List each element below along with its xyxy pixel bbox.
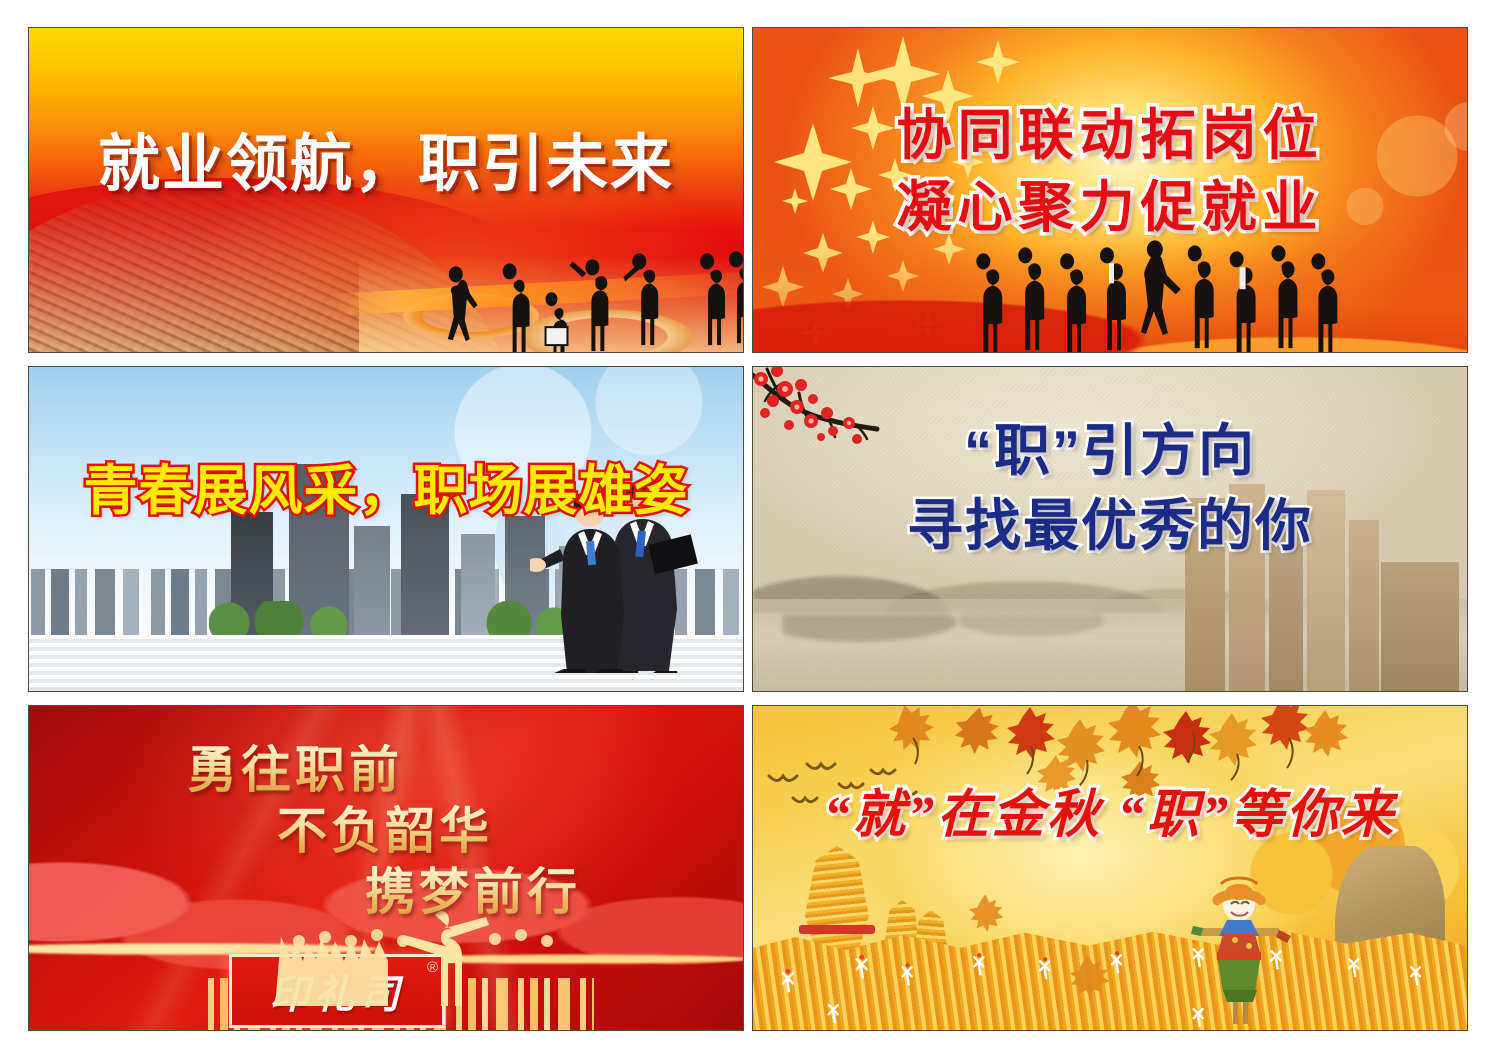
banner-card-5[interactable]: 勇往职前 不负韶华 携梦前行 印礼司 ® (28, 705, 744, 1031)
banner-3-line-1: 青春展风采，职场展雄姿 (29, 463, 743, 520)
banner-6-title: “就”在金秋 “职”等你来 (753, 788, 1467, 843)
banner-5-title: 勇往职前 不负韶华 携梦前行 (149, 744, 709, 927)
banner-2-line-2: 凝心聚力促就业 (753, 178, 1467, 236)
banner-contact-sheet: 就业领航，职引未来 (0, 0, 1494, 1058)
banner-card-6[interactable]: “就”在金秋 “职”等你来 (752, 705, 1468, 1031)
banner-4-line-1: “职”引方向 (753, 421, 1467, 480)
banner-5-line-1: 勇往职前 (187, 744, 709, 797)
banner-5-line-3: 携梦前行 (365, 866, 709, 919)
banner-card-4[interactable]: “职”引方向 寻找最优秀的你 (752, 366, 1468, 692)
banner-2-title: 协同联动拓岗位 凝心聚力促就业 (753, 106, 1467, 251)
banner-4-line-2: 寻找最优秀的你 (753, 496, 1467, 555)
banner-card-2[interactable]: 协同联动拓岗位 凝心聚力促就业 (752, 27, 1468, 353)
banner-card-3[interactable]: 青春展风采，职场展雄姿 (28, 366, 744, 692)
banner-2-line-1: 协同联动拓岗位 (753, 106, 1467, 164)
banner-5-line-2: 不负韶华 (277, 805, 709, 858)
dragonfly-icon (753, 706, 1467, 1031)
banner-card-1[interactable]: 就业领航，职引未来 (28, 27, 744, 353)
banner-6-line-1: “就”在金秋 “职”等你来 (753, 788, 1467, 843)
banner-4-title: “职”引方向 寻找最优秀的你 (753, 421, 1467, 572)
banner-3-title: 青春展风采，职场展雄姿 (29, 463, 743, 520)
banner-1-title: 就业领航，职引未来 (29, 132, 743, 198)
banner-1-line-1: 就业领航，职引未来 (29, 132, 743, 198)
